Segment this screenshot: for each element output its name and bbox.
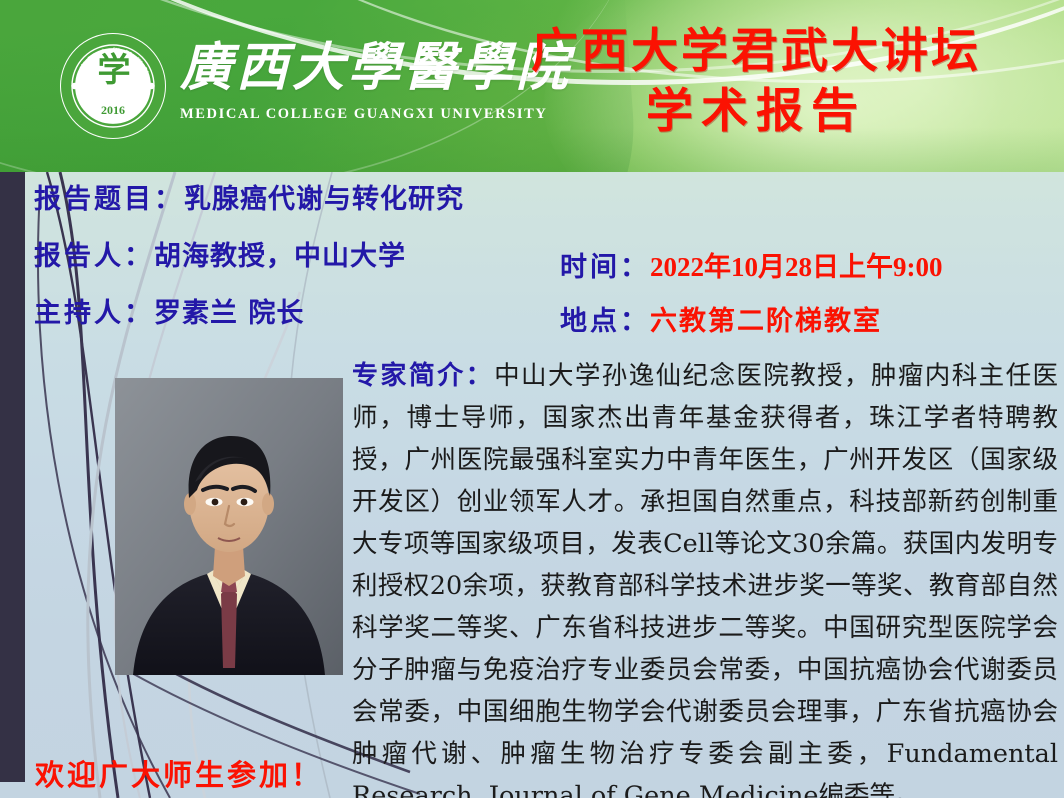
poster-header: 廣西大學醫學院 MEDICAL COLLEGE GUANGXI UNIVERSI…: [0, 0, 1064, 172]
speaker-bio: 专家简介：中山大学孙逸仙纪念医院教授，肿瘤内科主任医师，博士导师，国家杰出青年基…: [352, 355, 1058, 798]
speaker-value: 胡海教授，中山大学: [154, 241, 406, 272]
header-swoosh-3: [120, 0, 1064, 83]
topic-value: 乳腺癌代谢与转化研究: [184, 184, 464, 215]
time-value: 2022年10月28日上午9:00: [650, 252, 943, 282]
speaker-label: 报告人：: [34, 241, 154, 272]
header-dark-wave: [0, 0, 653, 172]
info-row-time: 时间：2022年10月28日上午9:00: [548, 254, 1060, 281]
event-info-left: 报告题目：乳腺癌代谢与转化研究 报告人：胡海教授，中山大学 主持人：罗素兰 院长: [34, 186, 554, 357]
bio-text: 中山大学孙逸仙纪念医院教授，肿瘤内科主任医师，博士导师，国家杰出青年基金获得者，…: [352, 361, 1058, 798]
topic-label: 报告题目：: [34, 184, 184, 215]
place-label: 地点：: [560, 306, 650, 337]
header-swoosh-2: [0, 0, 1064, 73]
college-name-en: MEDICAL COLLEGE GUANGXI UNIVERSITY: [180, 106, 547, 123]
time-label: 时间：: [560, 252, 650, 283]
college-name-cn: 廣西大學醫學院: [180, 42, 572, 94]
host-label: 主持人：: [34, 298, 154, 329]
emblem-monogram: 学: [60, 53, 166, 86]
welcome-note: 欢迎广大师生参加！: [35, 752, 323, 794]
header-glow: [544, 0, 1064, 172]
poster-root: 廣西大學醫學院 MEDICAL COLLEGE GUANGXI UNIVERSI…: [0, 0, 1064, 798]
svg-text:MEDICAL COLLEGE GUANGXI UNIVER: MEDICAL COLLEGE GUANGXI UNIVERSITY: [60, 33, 149, 122]
poster-title-line2: 学术报告: [456, 82, 1056, 142]
poster-title: 广西大学君武大讲坛 学术报告: [456, 22, 1056, 142]
host-value: 罗素兰 院长: [154, 298, 304, 329]
poster-title-line1: 广西大学君武大讲坛: [456, 22, 1056, 82]
svg-text:廣西大學醫學院: 廣西大學醫學院: [77, 46, 152, 81]
university-emblem-icon: 廣西大學醫學院 MEDICAL COLLEGE GUANGXI UNIVERSI…: [60, 33, 166, 139]
info-row-speaker: 报告人：胡海教授，中山大学: [34, 243, 554, 270]
header-swoosh-4: [0, 0, 640, 172]
info-row-place: 地点：六教第二阶梯教室: [548, 308, 1060, 335]
emblem-year: 2016: [60, 103, 166, 118]
bio-label: 专家简介：: [352, 361, 494, 391]
info-row-topic: 报告题目：乳腺癌代谢与转化研究: [34, 186, 554, 213]
info-row-host: 主持人：罗素兰 院长: [34, 300, 554, 327]
place-value: 六教第二阶梯教室: [650, 306, 882, 337]
left-accent-bar: [0, 172, 25, 782]
header-swoosh-1: [0, 0, 1064, 85]
event-info-right: 时间：2022年10月28日上午9:00 地点：六教第二阶梯教室: [548, 254, 1060, 362]
speaker-portrait: [115, 378, 343, 675]
